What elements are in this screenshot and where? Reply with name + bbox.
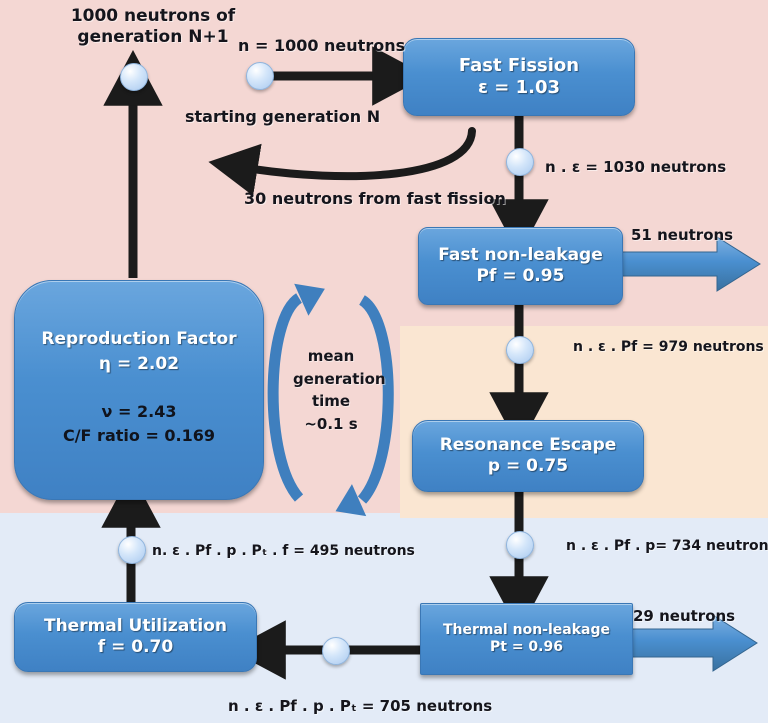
box-reproduction-factor-nu: ν = 2.43 bbox=[102, 402, 177, 422]
label-mean-generation-time: mean generation time ~0.1 s bbox=[293, 345, 369, 435]
box-reproduction-factor-title: Reproduction Factor bbox=[41, 329, 236, 350]
box-thermal-non-leakage[interactable]: Thermal non-leakage Pt = 0.96 bbox=[420, 603, 633, 675]
box-thermal-utilization-title: Thermal Utilization bbox=[44, 616, 227, 637]
label-starting-generation: starting generation N bbox=[185, 107, 380, 127]
box-fast-fission-value: ε = 1.03 bbox=[478, 77, 560, 100]
flow-node-next-generation bbox=[120, 63, 148, 91]
label-thermal-leakage: 29 neutrons bbox=[633, 607, 735, 625]
flow-node-after-thermal-non-leakage bbox=[322, 637, 350, 665]
box-fast-fission[interactable]: Fast Fission ε = 1.03 bbox=[403, 38, 635, 116]
arrow-fast-leakage bbox=[620, 237, 760, 291]
flow-node-after-resonance-escape bbox=[506, 531, 534, 559]
box-resonance-escape-value: p = 0.75 bbox=[488, 456, 568, 477]
label-mean-generation-time-line-3: time bbox=[293, 390, 369, 413]
label-after-fast-fission: n . ε = 1030 neutrons bbox=[545, 158, 726, 176]
flow-node-start-generation bbox=[246, 62, 274, 90]
box-fast-fission-title: Fast Fission bbox=[459, 55, 579, 78]
label-after-fast-non-leakage: n . ε . Pf = 979 neutrons bbox=[573, 339, 764, 356]
box-fast-non-leakage-value: Pf = 0.95 bbox=[477, 266, 565, 287]
label-after-thermal-non-leakage: n . ε . Pf . p . Pₜ = 705 neutrons bbox=[228, 697, 492, 715]
label-mean-generation-time-line-1: mean bbox=[293, 345, 369, 368]
label-mean-generation-time-line-2: generation bbox=[293, 368, 369, 391]
arrow-fast-fission-return-curve bbox=[240, 131, 472, 176]
box-fast-non-leakage-title: Fast non-leakage bbox=[438, 245, 603, 266]
label-next-generation: 1000 neutrons of generation N+1 bbox=[58, 6, 248, 47]
box-thermal-non-leakage-value: Pt = 0.96 bbox=[490, 639, 563, 657]
box-reproduction-factor-cf-ratio: C/F ratio = 0.169 bbox=[63, 426, 215, 446]
label-after-resonance-escape: n . ε . Pf . p= 734 neutrons bbox=[566, 538, 768, 555]
label-mean-generation-time-line-4: ~0.1 s bbox=[293, 413, 369, 436]
box-thermal-utilization[interactable]: Thermal Utilization f = 0.70 bbox=[14, 602, 257, 672]
box-thermal-utilization-value: f = 0.70 bbox=[98, 637, 173, 658]
flow-node-after-thermal-utilization bbox=[118, 536, 146, 564]
diagram-canvas: Fast Fission ε = 1.03 Fast non-leakage P… bbox=[0, 0, 768, 723]
box-fast-non-leakage[interactable]: Fast non-leakage Pf = 0.95 bbox=[418, 227, 623, 305]
box-thermal-non-leakage-title: Thermal non-leakage bbox=[443, 622, 610, 640]
box-reproduction-factor[interactable]: Reproduction Factor η = 2.02 ν = 2.43 C/… bbox=[14, 280, 264, 500]
box-reproduction-factor-eta: η = 2.02 bbox=[99, 354, 179, 375]
label-fast-fission-return: 30 neutrons from fast fission bbox=[244, 189, 506, 209]
flow-node-after-fast-non-leakage bbox=[506, 336, 534, 364]
box-resonance-escape-title: Resonance Escape bbox=[440, 435, 617, 456]
label-n-start: n = 1000 neutrons bbox=[238, 36, 405, 56]
label-fast-leakage: 51 neutrons bbox=[631, 226, 733, 244]
label-after-thermal-utilization: n. ε . Pf . p . Pₜ . f = 495 neutrons bbox=[152, 543, 415, 560]
flow-node-after-fast-fission bbox=[506, 148, 534, 176]
box-resonance-escape[interactable]: Resonance Escape p = 0.75 bbox=[412, 420, 644, 492]
